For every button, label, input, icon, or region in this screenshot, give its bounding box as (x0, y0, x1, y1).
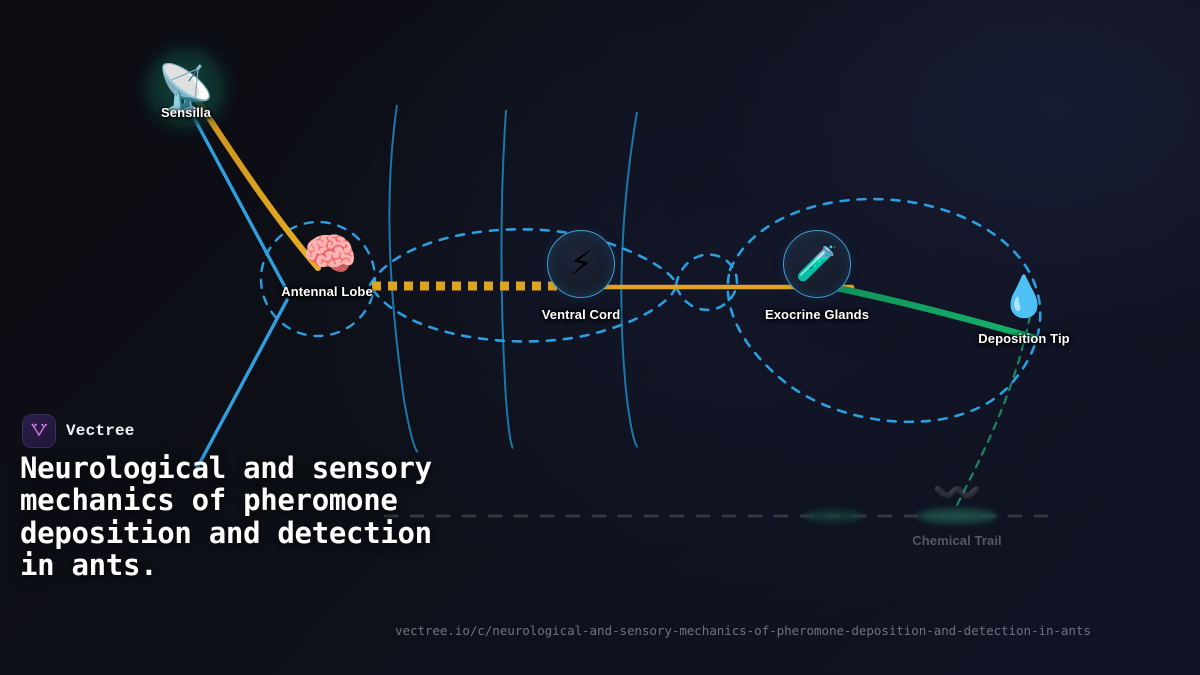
ventral-cord-art: ⚡ (547, 230, 615, 298)
node-deposition-tip[interactable]: 💧 (999, 277, 1049, 317)
ventral-cord-ring: ⚡ (547, 230, 615, 298)
brand-block: Vectree (22, 414, 135, 448)
page-url: vectree.io/c/neurological-and-sensory-me… (395, 623, 1091, 638)
node-chemical-trail[interactable]: 〰️ (932, 473, 982, 513)
test-tube-icon: 🧪 (796, 247, 838, 281)
antennal-lobe-art: 🧠 (262, 223, 374, 335)
node-antennal-lobe[interactable]: 🧠 (262, 223, 374, 335)
node-label-exocrine-glands: Exocrine Glands (765, 307, 869, 322)
node-label-sensilla: Sensilla (161, 105, 211, 120)
blue-arc-2 (502, 110, 514, 448)
vectree-logo (22, 414, 56, 448)
node-label-deposition-tip: Deposition Tip (978, 331, 1069, 346)
trail-blob-1 (803, 510, 863, 522)
lightning-bolt-icon: ⚡ (569, 247, 593, 281)
blue-arc-3 (621, 112, 638, 447)
node-label-chemical-trail: Chemical Trail (912, 533, 1002, 548)
node-label-antennal-lobe: Antennal Lobe (281, 284, 373, 299)
node-label-ventral-cord: Ventral Cord (542, 307, 621, 322)
deposition-tip-art: 💧 (999, 277, 1049, 317)
vectree-branch-logo-icon (29, 421, 49, 441)
wavy-line-icon: 〰️ (932, 473, 982, 513)
poster-canvas: 📡 Sensilla 🧠 Antennal Lobe ⚡ Ventral Cor… (0, 0, 1200, 675)
exocrine-glands-ring: 🧪 (783, 230, 851, 298)
page-title: Neurological and sensory mechanics of ph… (20, 452, 450, 582)
chemical-trail-art: 〰️ (932, 473, 982, 513)
exocrine-glands-art: 🧪 (783, 230, 851, 298)
brain-icon: 🧠 (303, 233, 358, 277)
brand-name: Vectree (66, 422, 135, 440)
node-ventral-cord[interactable]: ⚡ (547, 230, 615, 298)
water-droplet-icon: 💧 (999, 277, 1049, 317)
node-exocrine-glands[interactable]: 🧪 (783, 230, 851, 298)
antennal-lobe-disc: 🧠 (262, 223, 374, 335)
blue-arc-1 (389, 105, 418, 452)
